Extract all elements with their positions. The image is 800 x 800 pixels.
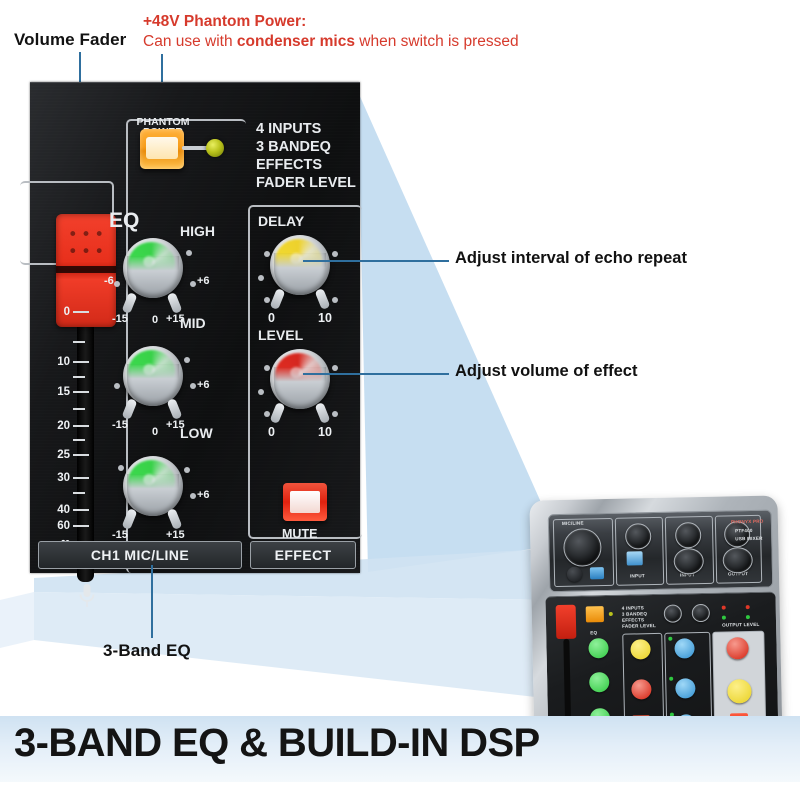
infographic-root: Volume Fader +48V Phantom Power: Can use…: [0, 0, 800, 800]
delay-label: DELAY: [258, 213, 304, 229]
level-dot-br: [332, 411, 338, 417]
eq-high-val-left: -6: [104, 275, 114, 287]
fader-tick-7: [73, 525, 89, 527]
product-ch2-led: [668, 637, 672, 641]
eq-high-val-right: +6: [197, 275, 210, 287]
fader-tick-d: [73, 439, 85, 441]
level-dot-tl: [264, 365, 270, 371]
product-face-jack-2: [692, 604, 710, 622]
phantom-text-post: when switch is pressed: [355, 33, 519, 50]
fader-tick-e: [73, 492, 85, 494]
section-ch1-mic-line: CH1 MIC/LINE: [38, 541, 242, 569]
callout-delay-note: Adjust interval of echo repeat: [455, 249, 687, 268]
fader-tick-5: [73, 477, 89, 479]
phantom-power-button[interactable]: [140, 129, 184, 169]
level-dot-l: [258, 389, 264, 395]
phantom-led-icon: [206, 139, 224, 157]
eq-high-dot-r: [190, 281, 196, 287]
eq-low-val-right: +6: [197, 489, 210, 501]
product-fader-track: [563, 639, 571, 727]
product-chassis: MIC/LINE INPUT INPUT OUTPUT PHONYX PRO: [529, 495, 782, 748]
product-mic-button: [590, 567, 604, 579]
eq-low-val-top: 0: [152, 426, 158, 438]
product-photo: MIC/LINE INPUT INPUT OUTPUT PHONYX PRO: [524, 492, 790, 754]
eq-low-val-max: +15: [166, 529, 185, 541]
mute-button-cap: [290, 491, 320, 513]
eq-mid-knob[interactable]: [123, 346, 183, 406]
fader-tick-2: [73, 391, 89, 393]
fader-tick-3: [73, 425, 89, 427]
leader-level: [303, 373, 449, 375]
eq-mid-val-min: -15: [112, 419, 128, 431]
fader-scale-num-6: 40: [40, 504, 70, 516]
product-phantom-button: [586, 606, 604, 622]
callout-level-note: Adjust volume of effect: [455, 362, 637, 381]
feature-line-2: EFFECTS: [256, 157, 322, 173]
banner-headline: 3-BAND EQ & BUILD-IN DSP: [14, 721, 540, 766]
callout-volume-fader-label: Volume Fader: [14, 30, 126, 50]
section-effect: EFFECT: [250, 541, 356, 569]
eq-high-val-min: -15: [112, 313, 128, 325]
product-input1-button: [627, 551, 643, 565]
fader-tick-c: [73, 408, 85, 410]
eq-mid-val-right: +6: [197, 379, 210, 391]
mute-label: MUTE: [282, 527, 317, 541]
fader-scale-num-3: 20: [40, 420, 70, 432]
eq-low-val-min: -15: [112, 529, 128, 541]
fader-tick-1: [73, 361, 89, 363]
fader-tick-b: [73, 376, 85, 378]
wedge-left-thin: [0, 592, 34, 648]
delay-val-max: 10: [318, 311, 332, 325]
product-top-label-in1: INPUT: [630, 573, 645, 578]
level-knob[interactable]: [270, 349, 330, 409]
product-out-led-1: [722, 606, 726, 610]
fader-scale-num-1: 10: [40, 356, 70, 368]
level-dot-bl: [264, 411, 270, 417]
product-out-led-4: [746, 615, 750, 619]
eq-low-label: LOW: [180, 425, 213, 441]
product-top-label-mic: MIC/LINE: [562, 520, 584, 525]
fader-scale-num-4: 25: [40, 449, 70, 461]
delay-val-min: 0: [268, 311, 275, 325]
callout-3band-eq: 3-Band EQ: [103, 641, 191, 661]
product-sub: USB MIXER: [735, 536, 762, 542]
delay-dot-br: [332, 297, 338, 303]
product-fader-cap: [556, 605, 577, 639]
feature-line-3: FADER LEVEL: [256, 175, 356, 191]
eq-low-dot-r: [190, 493, 196, 499]
level-label: LEVEL: [258, 327, 303, 343]
callout-phantom-line1: +48V Phantom Power:: [143, 12, 306, 31]
phantom-text-pre: Can use with: [143, 33, 237, 50]
delay-dot-tl: [264, 251, 270, 257]
product-connector-panel: MIC/LINE INPUT INPUT OUTPUT PHONYX PRO: [548, 510, 774, 593]
eq-mid-dot-r: [190, 383, 196, 389]
fader-tick-a: [73, 341, 85, 343]
product-brand: PHONYX PRO: [731, 519, 764, 525]
delay-dot-l: [258, 275, 264, 281]
callout-phantom-line2: Can use with condenser mics when switch …: [143, 32, 519, 51]
product-output-level-label: OUTPUT LEVEL: [722, 622, 759, 628]
leader-3band-eq: [151, 565, 153, 638]
eq-high-label: HIGH: [180, 223, 215, 239]
eq-mid-dot-l: [114, 383, 120, 389]
product-eq-high-knob: [588, 638, 608, 658]
fader-scale-num-0: 0: [40, 306, 70, 318]
level-val-max: 10: [318, 425, 332, 439]
fader-tick-6: [73, 509, 89, 511]
eq-mid-dot-tr: [184, 357, 190, 363]
eq-high-knob[interactable]: [123, 238, 183, 298]
eq-mid-label: MID: [180, 315, 206, 331]
fader-tick-4: [73, 454, 89, 456]
delay-dot-tr: [332, 251, 338, 257]
phantom-text-strong: condenser mics: [237, 33, 355, 50]
leader-delay: [303, 260, 449, 262]
phantom-button-cap: [146, 137, 178, 159]
eq-low-dot-tr: [184, 467, 190, 473]
eq-mid-val-top: 0: [152, 314, 158, 326]
microphone-icon: [77, 583, 97, 609]
fader-scale-num-7: 60: [40, 520, 70, 532]
feature-line-0: 4 INPUTS: [256, 121, 321, 137]
product-eq-label: EQ: [590, 630, 597, 635]
mixer-panel-closeup: PHANTOM POWER 4 INPUTS 3 BANDEQ EFFECTS …: [30, 82, 360, 573]
product-ch3-led: [669, 677, 673, 681]
eq-low-dot-tl: [118, 465, 124, 471]
eq-title: EQ: [109, 209, 139, 233]
eq-high-dot-l: [114, 281, 120, 287]
eq-low-knob[interactable]: [123, 456, 183, 516]
product-out-led-2: [746, 605, 750, 609]
product-out-led-3: [722, 616, 726, 620]
product-feature-text: 4 INPUTS3 BANDEQEFFECTSFADER LEVEL: [622, 605, 656, 630]
level-val-min: 0: [268, 425, 275, 439]
phantom-led-wire: [182, 146, 208, 150]
product-eq-mid-knob: [589, 672, 609, 692]
delay-knob[interactable]: [270, 235, 330, 295]
product-phantom-led: [609, 612, 613, 616]
delay-dot-bl: [264, 297, 270, 303]
eq-high-dot-tr: [186, 250, 192, 256]
level-dot-tr: [332, 365, 338, 371]
product-face-jack-1: [664, 604, 682, 622]
fader-tick-0: [73, 311, 89, 313]
product-model: PTF400: [735, 528, 753, 533]
fader-scale-num-2: 15: [40, 386, 70, 398]
mute-button[interactable]: [283, 483, 327, 521]
fader-scale-num-5: 30: [40, 472, 70, 484]
feature-line-1: 3 BANDEQ: [256, 139, 331, 155]
